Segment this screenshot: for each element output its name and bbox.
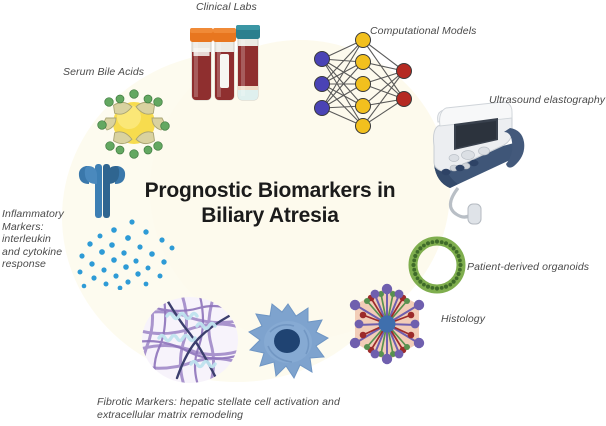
label-clinical-labs: Clinical Labs — [196, 1, 257, 14]
ultrasound-elastography-device-icon — [424, 96, 552, 228]
hepatic-stellate-cell-icon — [246, 302, 330, 384]
label-ultrasound-elastography: Ultrasound elastography — [489, 94, 605, 107]
blood-collection-tubes-icon — [186, 22, 264, 108]
neural-network-icon — [306, 26, 418, 138]
label-patient-derived-organoids: Patient-derived organoids — [467, 261, 589, 274]
collagen-fiber-matrix-icon — [141, 296, 239, 384]
label-histology: Histology — [441, 313, 485, 326]
liver-lobule-histology-icon — [341, 281, 433, 373]
title-line-2: Biliary Atresia — [120, 203, 420, 228]
page-title: Prognostic Biomarkers in Biliary Atresia — [120, 178, 420, 228]
label-fibrotic-markers: Fibrotic Markers: hepatic stellate cell … — [97, 396, 397, 421]
biliary-atresia-biomarkers-figure: Prognostic Biomarkers in Biliary Atresia… — [0, 0, 606, 426]
title-line-1: Prognostic Biomarkers in — [120, 178, 420, 203]
label-computational-models: Computational Models — [370, 25, 476, 38]
label-serum-bile-acids: Serum Bile Acids — [63, 66, 144, 79]
label-inflammatory-markers: Inflammatory Markers: interleukin and cy… — [2, 208, 94, 271]
bile-acid-micelle-icon — [96, 84, 172, 162]
